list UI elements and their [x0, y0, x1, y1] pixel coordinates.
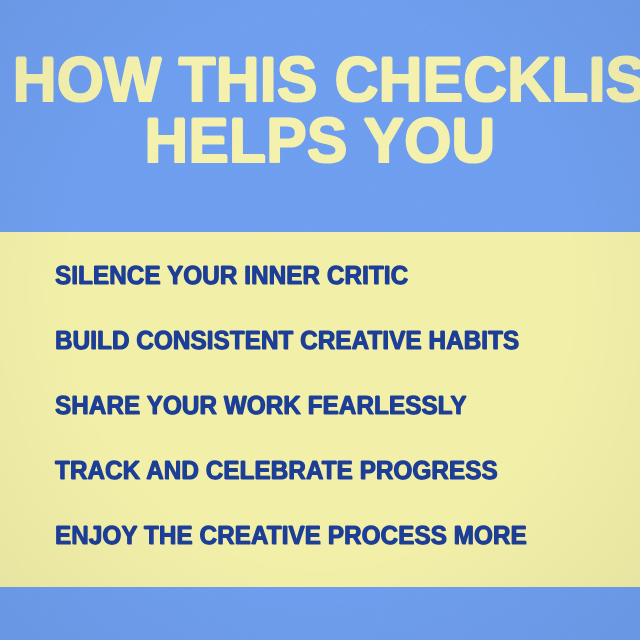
list-item: TRACK AND CELEBRATE PROGRESS	[55, 457, 615, 522]
checklist-item-label: SHARE YOUR WORK FEARLESSLY	[55, 392, 467, 418]
checklist-item-label: TRACK AND CELEBRATE PROGRESS	[55, 457, 498, 483]
list-item: ENJOY THE CREATIVE PROCESS MORE	[55, 522, 615, 587]
page-title: HOW THIS CHECKLIST HELPS YOU	[0, 52, 640, 171]
list-item: SHARE YOUR WORK FEARLESSLY	[55, 392, 615, 457]
checklist: SILENCE YOUR INNER CRITIC BUILD CONSISTE…	[55, 262, 615, 587]
checklist-item-label: ENJOY THE CREATIVE PROCESS MORE	[55, 522, 527, 548]
page-title-line-1: HOW THIS CHECKLIST	[13, 52, 627, 110]
checklist-item-label: BUILD CONSISTENT CREATIVE HABITS	[55, 327, 519, 353]
list-item: BUILD CONSISTENT CREATIVE HABITS	[55, 327, 615, 392]
list-item: SILENCE YOUR INNER CRITIC	[55, 262, 615, 327]
footer-color-band	[0, 587, 640, 640]
page-title-line-2: HELPS YOU	[13, 113, 627, 171]
checklist-item-label: SILENCE YOUR INNER CRITIC	[55, 262, 408, 288]
poster-canvas: HOW THIS CHECKLIST HELPS YOU SILENCE YOU…	[0, 0, 640, 640]
